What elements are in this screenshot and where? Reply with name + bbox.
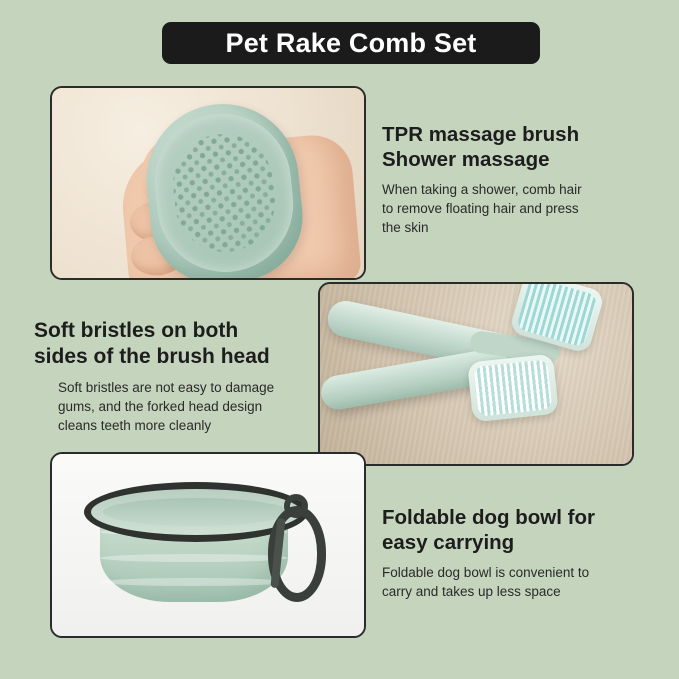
photo-pet-toothbrush [318,282,634,466]
bowl-fold-ridge [100,578,288,586]
carabiner-loop [284,494,308,518]
carabiner-clip [268,506,326,602]
heading-foldable-dog-bowl: Foldable dog bowl for easy carrying [382,505,640,555]
heading-tpr-massage-brush: TPR massage brush Shower massage [382,122,634,172]
photo-tpr-massage-brush [50,86,366,280]
brush-nubs [168,129,280,257]
photo-foldable-dog-bowl [50,452,366,638]
body-foldable-dog-bowl: Foldable dog bowl is convenient to carry… [382,563,640,601]
bristles-white [474,359,553,416]
page-title: Pet Rake Comb Set [226,28,477,59]
brush-rim [148,107,300,278]
heading-soft-bristles: Soft bristles on both sides of the brush… [34,318,320,370]
page-title-banner: Pet Rake Comb Set [162,22,540,64]
text-block-tpr-massage-brush: TPR massage brush Shower massage When ta… [382,122,634,237]
bowl-fold-ridge [100,554,288,562]
product-infographic: Pet Rake Comb Set TPR massage brush Show… [0,0,679,679]
body-tpr-massage-brush: When taking a shower, comb hair to remov… [382,180,634,237]
body-soft-bristles: Soft bristles are not easy to damage gum… [34,378,320,435]
toothbrush-head-white [467,354,559,423]
text-block-foldable-dog-bowl: Foldable dog bowl for easy carrying Fold… [382,505,640,601]
bowl-rim-inner [103,498,289,526]
text-block-soft-bristles: Soft bristles on both sides of the brush… [34,318,320,435]
